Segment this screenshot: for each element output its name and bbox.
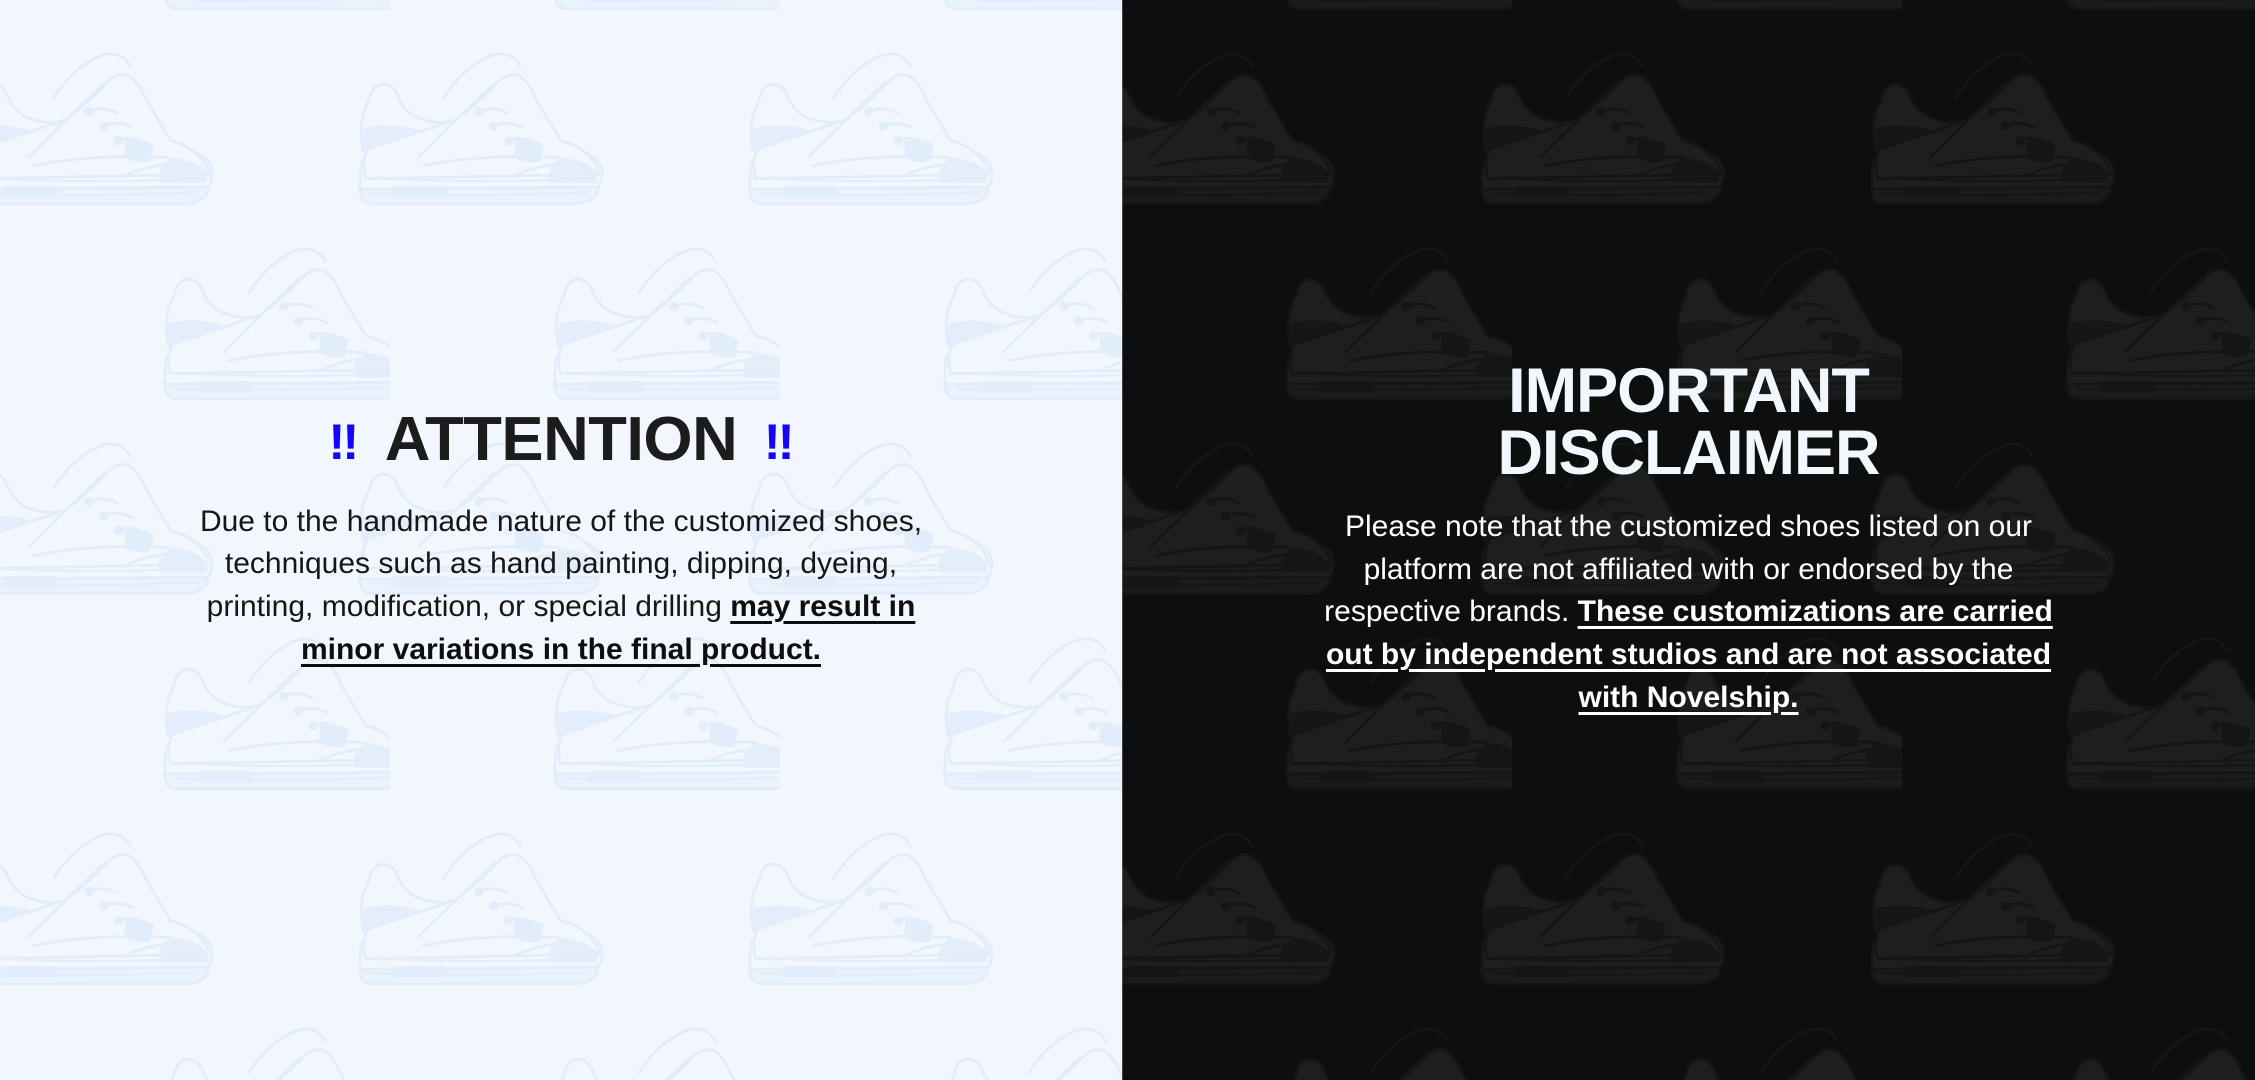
disclaimer-panel: IMPORTANT DISCLAIMER Please note that th… (1122, 0, 2255, 1080)
disclaimer-content: IMPORTANT DISCLAIMER Please note that th… (1122, 0, 2255, 1080)
panel-divider (1122, 0, 1123, 1080)
disclaimer-body: Please note that the customized shoes li… (1319, 506, 2059, 719)
attention-body: Due to the handmade nature of the custom… (191, 501, 931, 671)
attention-heading: ‼ ATTENTION ‼ (0, 409, 1122, 471)
attention-heading-label: ATTENTION (385, 409, 738, 471)
double-exclamation-icon-right: ‼ (764, 417, 794, 467)
disclaimer-banner: ‼ ATTENTION ‼ Due to the handmade nature… (0, 0, 2255, 1080)
disclaimer-heading: IMPORTANT DISCLAIMER (1389, 361, 1989, 484)
attention-panel: ‼ ATTENTION ‼ Due to the handmade nature… (0, 0, 1122, 1080)
double-exclamation-icon-left: ‼ (328, 417, 358, 467)
attention-content: ‼ ATTENTION ‼ Due to the handmade nature… (0, 0, 1122, 1080)
